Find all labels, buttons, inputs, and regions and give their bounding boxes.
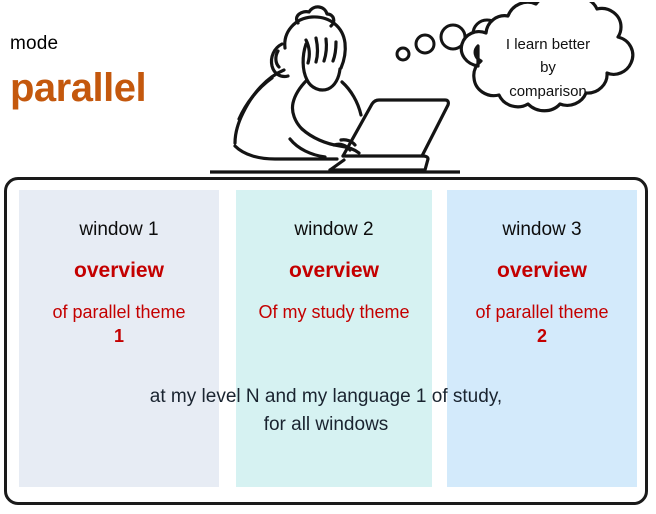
window-2-heading: window 2	[236, 220, 432, 239]
window-1-subtitle-text: of parallel theme	[52, 302, 185, 322]
window-1-subtitle: of parallel theme 1	[19, 300, 219, 349]
window-column-3[interactable]: window 3 overview of parallel theme 2	[447, 190, 637, 487]
header: mode parallel	[0, 0, 656, 176]
bubble-text-line-1: I learn better	[468, 33, 628, 56]
window-column-2[interactable]: window 2 overview Of my study theme	[236, 190, 432, 487]
window-3-subtitle: of parallel theme 2	[447, 300, 637, 349]
window-1-heading: window 1	[19, 220, 219, 239]
bubble-text-line-3: comparison	[468, 80, 628, 103]
window-3-theme-number: 2	[447, 324, 637, 348]
window-3-title: overview	[447, 260, 637, 281]
bubble-text-line-2: by	[468, 56, 628, 79]
window-column-1[interactable]: window 1 overview of parallel theme 1	[19, 190, 219, 487]
mode-label: mode	[10, 34, 58, 53]
window-3-subtitle-text: of parallel theme	[475, 302, 608, 322]
window-2-title: overview	[236, 260, 432, 281]
mode-value: parallel	[10, 68, 146, 108]
bubble-text: I learn better by comparison	[468, 33, 628, 103]
window-2-subtitle-text: Of my study	[258, 302, 354, 322]
window-1-title: overview	[19, 260, 219, 281]
window-2-subtitle-text-2: theme	[360, 302, 410, 322]
window-3-heading: window 3	[447, 220, 637, 239]
window-1-theme-number: 1	[19, 324, 219, 348]
window-2-subtitle: Of my study theme	[236, 300, 432, 324]
